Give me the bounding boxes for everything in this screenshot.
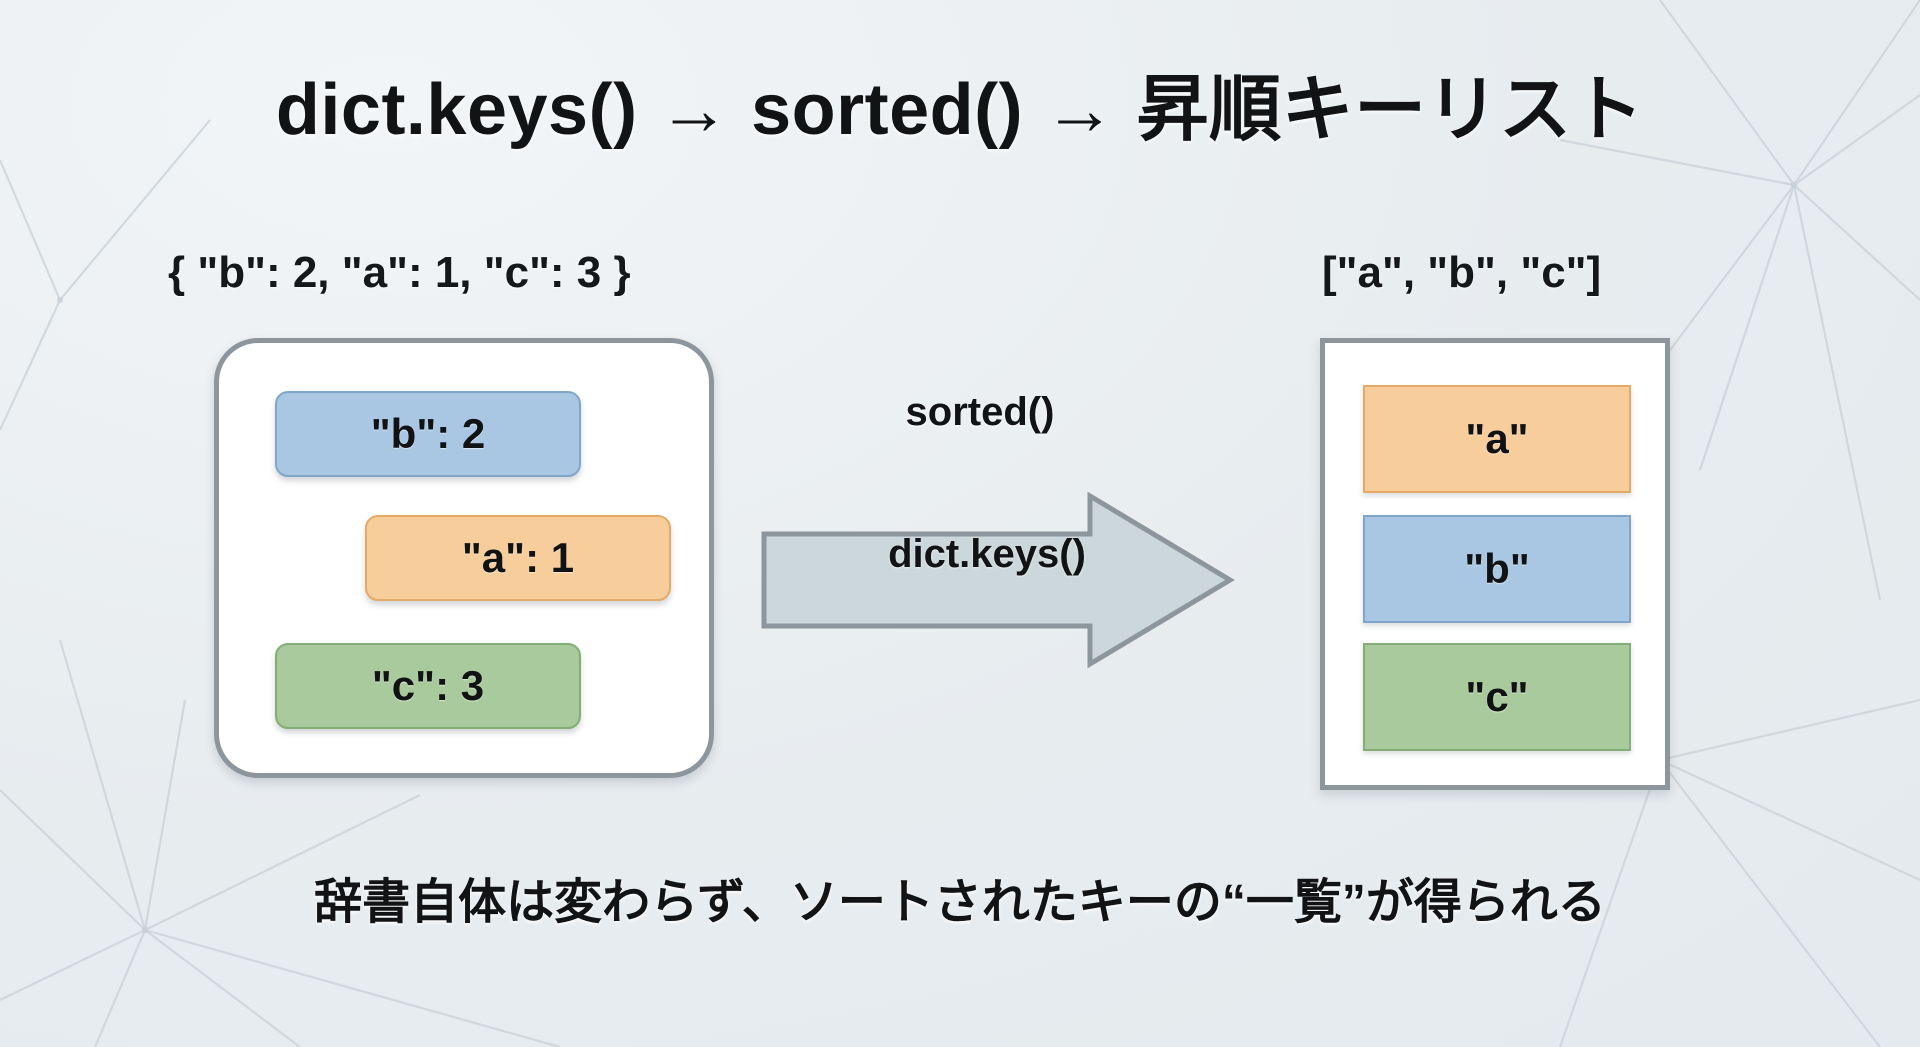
slide-canvas: dict.keys() → sorted() → 昇順キーリスト { "b": … (0, 0, 1920, 1047)
source-dict-literal: { "b": 2, "a": 1, "c": 3 } (168, 248, 631, 298)
page-title: dict.keys() → sorted() → 昇順キーリスト (0, 50, 1920, 155)
list-item-c: "c" (1363, 643, 1631, 751)
dict-entry-b: "b": 2 (275, 391, 581, 477)
result-list-container: "a" "b" "c" (1320, 338, 1670, 790)
arrow-label-sorted: sorted() (760, 390, 1200, 435)
list-item-b: "b" (1363, 515, 1631, 623)
footnote-caption: 辞書自体は変わらず、ソートされたキーの“一覧”が得られる (0, 862, 1920, 932)
block-arrow-icon (760, 490, 1260, 670)
dict-entry-a: "a": 1 (365, 515, 671, 601)
result-list-literal: ["a", "b", "c"] (1322, 248, 1601, 298)
dict-entry-c: "c": 3 (275, 643, 581, 729)
transform-arrow-group: sorted() dict.keys() (760, 490, 1260, 670)
source-dict-container: "b": 2 "a": 1 "c": 3 (214, 338, 714, 778)
arrow-label-dict-keys: dict.keys() (772, 532, 1202, 577)
list-item-a: "a" (1363, 385, 1631, 493)
